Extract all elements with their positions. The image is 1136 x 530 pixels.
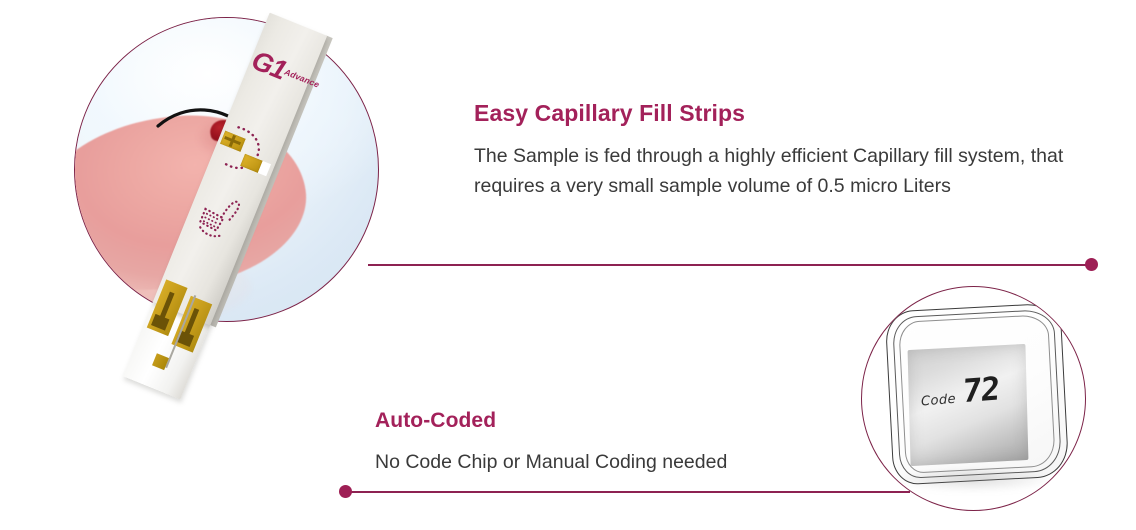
- connector-line-autocoded: [350, 491, 910, 493]
- meter-drop-shadow: [893, 470, 1054, 492]
- lcd-code-label: Code: [920, 392, 956, 410]
- feature-body-autocoded: No Code Chip or Manual Coding needed: [375, 448, 895, 478]
- feature-title-capillary: Easy Capillary Fill Strips: [474, 100, 745, 127]
- infographic-canvas: G1Advance: [0, 0, 1136, 530]
- lcd-code-value: 72: [961, 375, 999, 407]
- feature-title-autocoded: Auto-Coded: [375, 409, 496, 433]
- connector-line-capillary: [368, 264, 1090, 266]
- meter-lcd-screen: Code 72: [907, 344, 1028, 466]
- lcd-readout: Code 72: [920, 375, 1000, 410]
- feature-body-capillary: The Sample is fed through a highly effic…: [474, 142, 1094, 201]
- connector-dot-autocoded: [339, 485, 352, 498]
- connector-dot-capillary: [1085, 258, 1098, 271]
